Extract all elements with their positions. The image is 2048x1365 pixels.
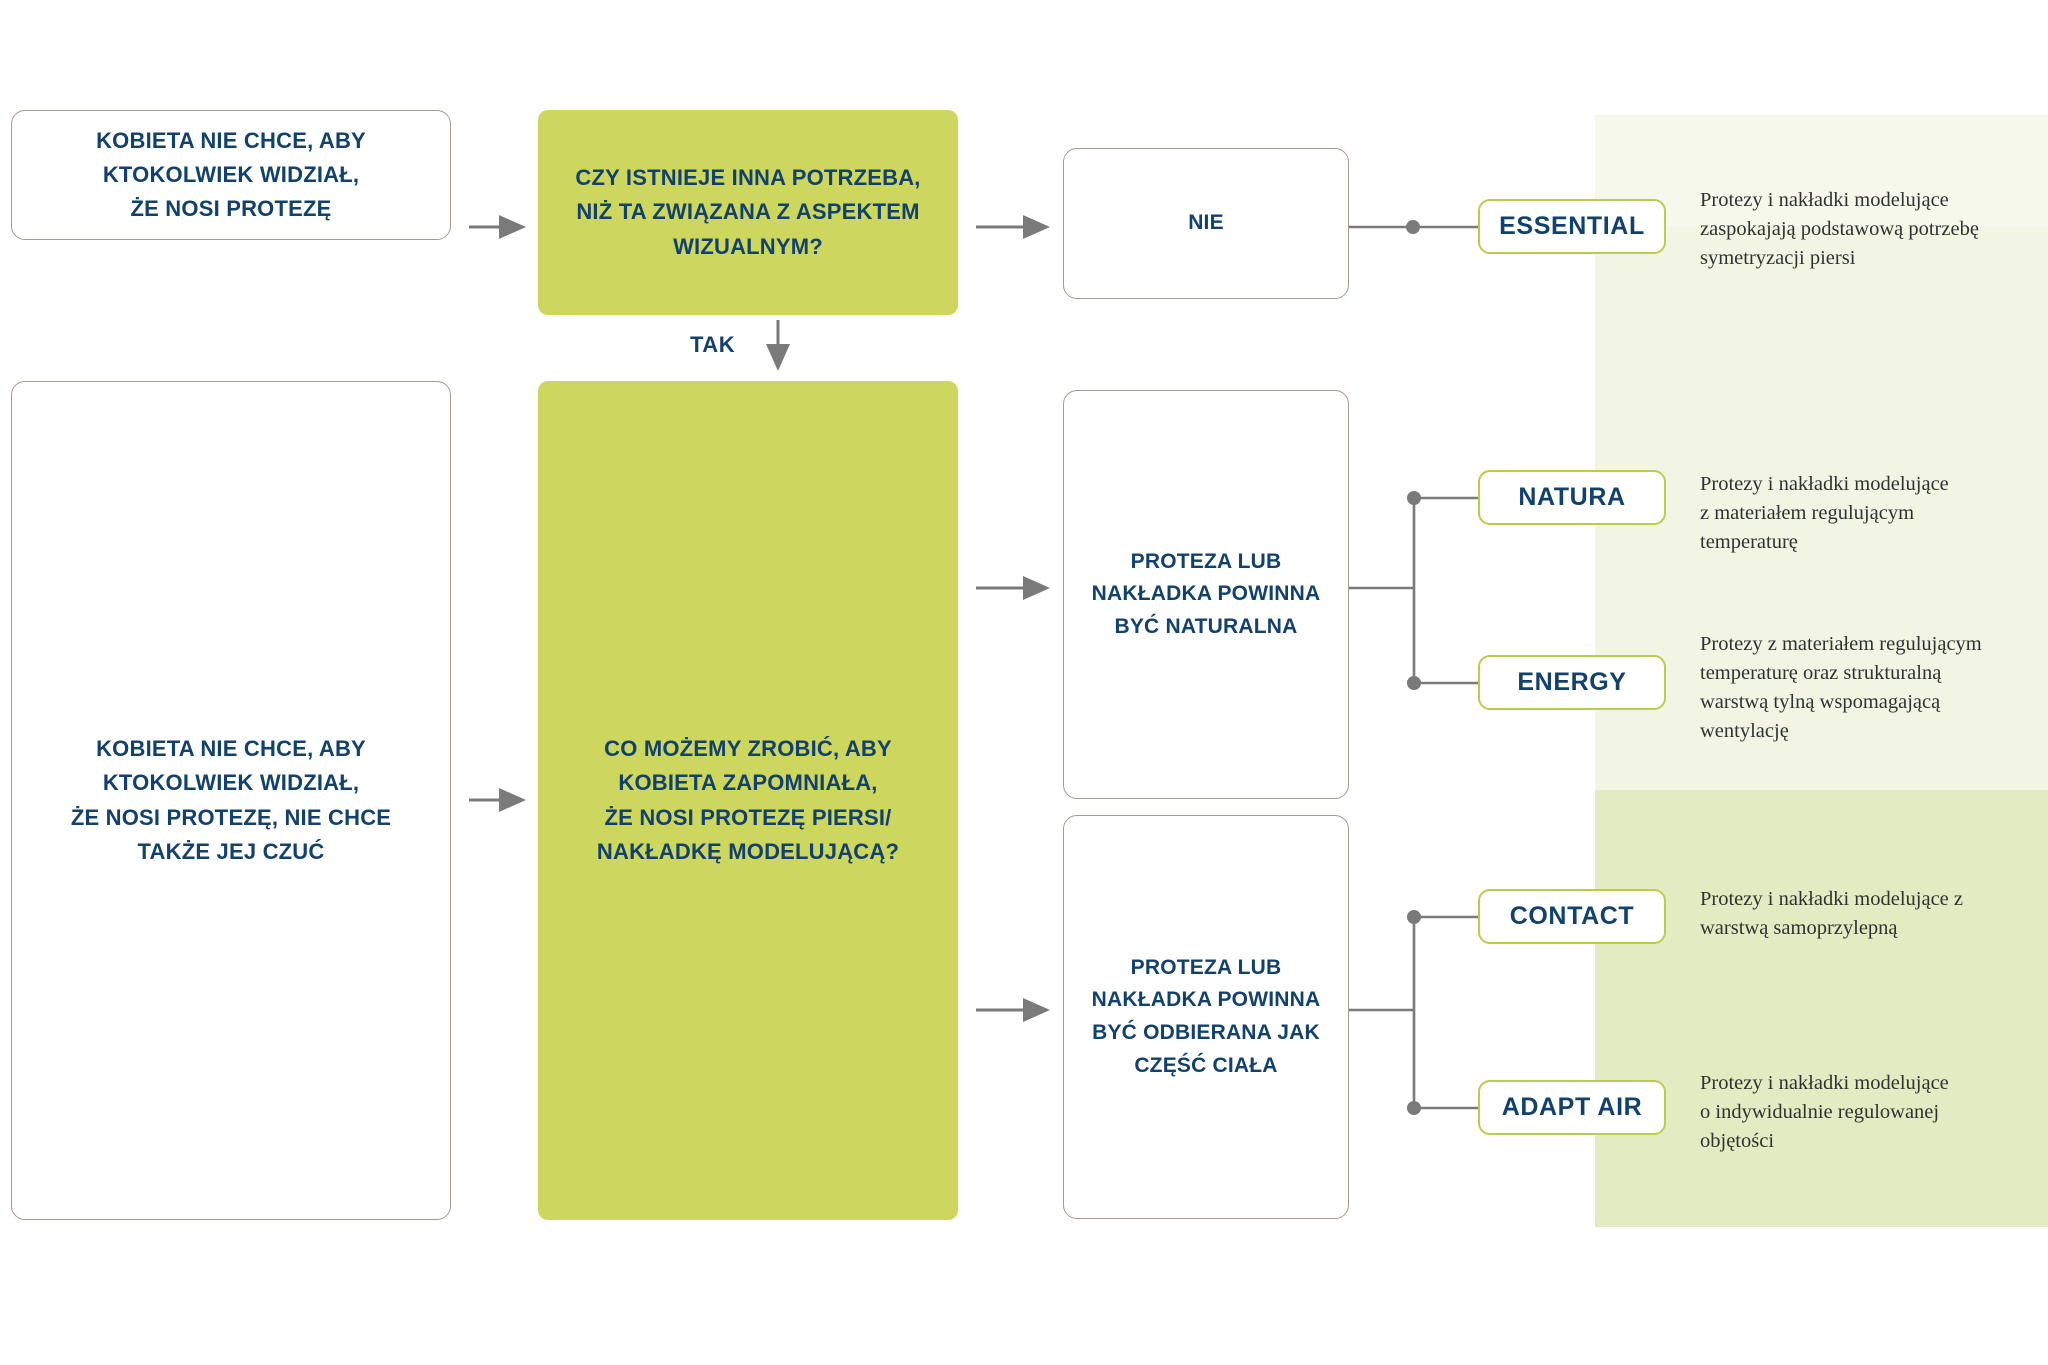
start-node-visibility-label: KOBIETA NIE CHCE, ABY KTOKOLWIEK WIDZIAŁ… (96, 124, 366, 226)
product-description-energy: Protezy z materiałem regulującym tempera… (1700, 630, 2040, 746)
outcome-should-feel-like-body-label: PROTEZA LUB NAKŁADKA POWINNA BYĆ ODBIERA… (1092, 952, 1321, 1082)
start-node-visibility: KOBIETA NIE CHCE, ABY KTOKOLWIEK WIDZIAŁ… (11, 110, 451, 240)
decision-other-need-label: CZY ISTNIEJE INNA POTRZEBA, NIŻ TA ZWIĄZ… (575, 161, 920, 263)
product-badge-essential-label: ESSENTIAL (1499, 212, 1645, 241)
product-badge-adapt-air[interactable]: ADAPT AIR (1478, 1080, 1666, 1135)
product-badge-contact[interactable]: CONTACT (1478, 889, 1666, 944)
start-node-visibility-and-feel: KOBIETA NIE CHCE, ABY KTOKOLWIEK WIDZIAŁ… (11, 381, 451, 1220)
product-description-natura: Protezy i nakładki modelujące z materiał… (1700, 470, 2040, 557)
product-description-essential: Protezy i nakładki modelujące zaspokajaj… (1700, 186, 2040, 273)
decision-how-to-forget: CO MOŻEMY ZROBIĆ, ABY KOBIETA ZAPOMNIAŁA… (538, 381, 958, 1220)
product-badge-natura[interactable]: NATURA (1478, 470, 1666, 525)
product-badge-essential[interactable]: ESSENTIAL (1478, 199, 1666, 254)
product-badge-energy-label: ENERGY (1517, 668, 1626, 697)
outcome-should-feel-like-body: PROTEZA LUB NAKŁADKA POWINNA BYĆ ODBIERA… (1063, 815, 1349, 1219)
branch-label-tak: TAK (690, 332, 735, 358)
product-description-contact: Protezy i nakładki modelujące z warstwą … (1700, 885, 2040, 943)
decision-other-need: CZY ISTNIEJE INNA POTRZEBA, NIŻ TA ZWIĄZ… (538, 110, 958, 315)
decision-how-to-forget-label: CO MOŻEMY ZROBIĆ, ABY KOBIETA ZAPOMNIAŁA… (597, 732, 899, 868)
product-description-adapt-air: Protezy i nakładki modelujące o indywidu… (1700, 1069, 2040, 1156)
product-badge-energy[interactable]: ENERGY (1478, 655, 1666, 710)
product-badge-contact-label: CONTACT (1510, 902, 1635, 931)
start-node-visibility-and-feel-label: KOBIETA NIE CHCE, ABY KTOKOLWIEK WIDZIAŁ… (71, 732, 391, 868)
outcome-should-be-natural: PROTEZA LUB NAKŁADKA POWINNA BYĆ NATURAL… (1063, 390, 1349, 799)
outcome-nie-label: NIE (1188, 207, 1224, 240)
product-badge-adapt-air-label: ADAPT AIR (1502, 1093, 1643, 1122)
flowchart-canvas: KOBIETA NIE CHCE, ABY KTOKOLWIEK WIDZIAŁ… (0, 0, 2048, 1365)
outcome-nie: NIE (1063, 148, 1349, 299)
outcome-should-be-natural-label: PROTEZA LUB NAKŁADKA POWINNA BYĆ NATURAL… (1092, 546, 1321, 644)
product-badge-natura-label: NATURA (1518, 483, 1625, 512)
